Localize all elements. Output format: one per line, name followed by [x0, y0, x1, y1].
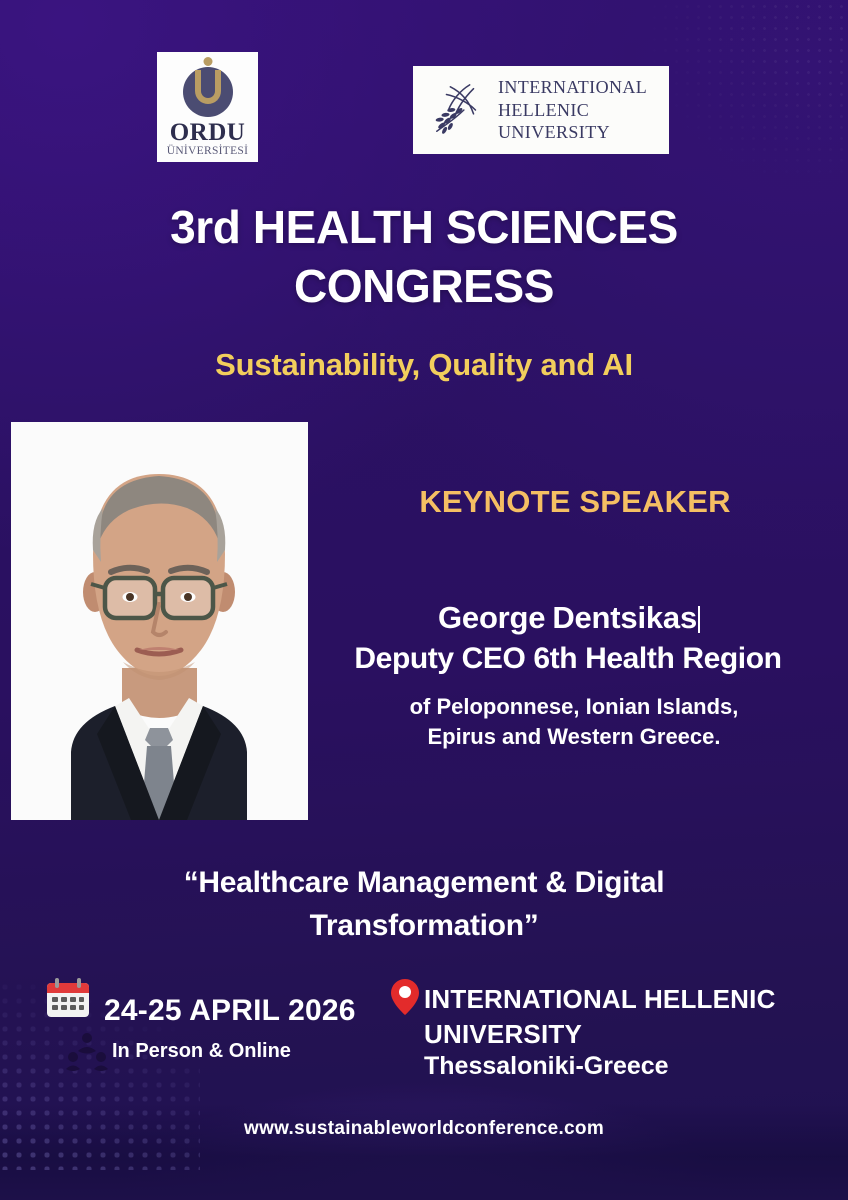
ihu-logo-line-1: INTERNATIONAL: [498, 76, 647, 99]
conference-poster: ORDU ÜNİVERSİTESİ: [0, 0, 848, 1200]
venue-line-1: INTERNATIONAL HELLENIC: [424, 982, 776, 1017]
speaker-region-line-1: of Peloponnese, Ionian Islands,: [320, 692, 828, 722]
speaker-given-name: George: [438, 600, 545, 635]
ordu-logo-wordmark: ORDU: [170, 120, 246, 145]
speaker-region-line-2: Epirus and Western Greece.: [320, 722, 828, 752]
calendar-icon: [44, 976, 92, 1024]
attendance-mode: In Person & Online: [112, 1040, 291, 1063]
talk-title-line-2: Transformation”: [60, 905, 788, 948]
keynote-speaker-label: KEYNOTE SPEAKER: [320, 484, 830, 520]
speaker-portrait-photo: [11, 422, 308, 820]
congress-subtitle: Sustainability, Quality and AI: [0, 347, 848, 383]
event-date: 24-25 APRIL 2026: [104, 994, 356, 1028]
congress-title: 3rd HEALTH SCIENCES CONGRESS: [0, 198, 848, 316]
ordu-logo-submark: ÜNİVERSİTESİ: [167, 146, 249, 158]
speaker-region: of Peloponnese, Ionian Islands, Epirus a…: [320, 692, 828, 753]
venue-name: INTERNATIONAL HELLENIC UNIVERSITY: [424, 982, 776, 1051]
speaker-role: Deputy CEO 6th Health Region: [298, 642, 838, 676]
international-hellenic-university-logo: INTERNATIONAL HELLENIC UNIVERSITY: [413, 66, 669, 154]
talk-title: “Healthcare Management & Digital Transfo…: [60, 862, 788, 947]
conference-website-url[interactable]: www.sustainableworldconference.com: [0, 1118, 848, 1140]
speaker-family-name: Dentsikas: [552, 600, 697, 635]
ordu-university-logo: ORDU ÜNİVERSİTESİ: [157, 52, 258, 162]
congress-title-line-2: CONGRESS: [0, 257, 848, 316]
ordu-emblem-icon: [174, 56, 242, 122]
decorative-glow-bottom: [114, 1080, 734, 1200]
venue-city: Thessaloniki-Greece: [424, 1052, 669, 1081]
speaker-portrait-illustration: [11, 422, 308, 820]
speaker-name: GeorgeDentsikas: [300, 600, 838, 636]
congress-title-line-1: 3rd HEALTH SCIENCES: [0, 198, 848, 257]
venue-line-2: UNIVERSITY: [424, 1017, 776, 1052]
text-cursor-artifact: [698, 606, 700, 633]
ihu-logo-line-2: HELLENIC: [498, 99, 647, 122]
ihu-olive-branch-emblem-icon: [431, 81, 489, 139]
participants-network-icon: [66, 1032, 108, 1072]
ihu-logo-line-3: UNIVERSITY: [498, 121, 647, 144]
talk-title-line-1: “Healthcare Management & Digital: [60, 862, 788, 905]
location-pin-icon: [390, 978, 420, 1016]
ihu-logo-text: INTERNATIONAL HELLENIC UNIVERSITY: [498, 76, 647, 145]
